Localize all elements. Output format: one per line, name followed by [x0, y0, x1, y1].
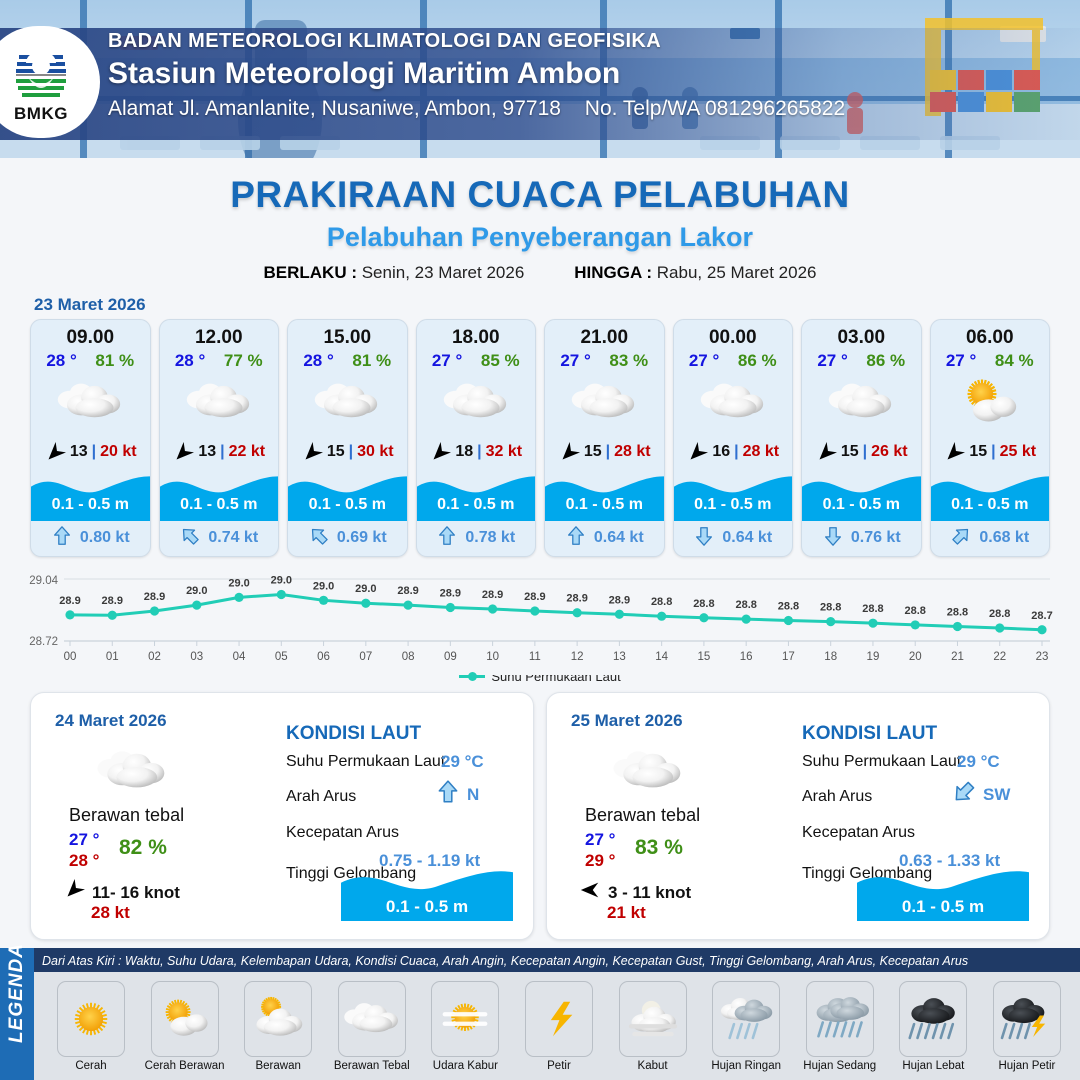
daily-gust-speed: 21 kt [607, 903, 646, 923]
card-wind-row: 15 | 28 kt [545, 437, 664, 467]
daily-temp-min: 27 ° [69, 830, 99, 850]
svg-text:13: 13 [613, 651, 626, 663]
sst-label: Suhu Permukaan Laut [802, 753, 961, 771]
card-current-row: 0.64 kt [674, 521, 793, 555]
card-time: 00.00 [674, 320, 793, 349]
card-humidity: 84 % [995, 351, 1034, 371]
svg-text:19: 19 [867, 651, 880, 663]
card-wind-speed: 15 [327, 443, 345, 461]
card-current-row: 0.80 kt [31, 521, 150, 555]
card-wind-speed: 18 [455, 443, 473, 461]
legend-icon-udara-kabur [431, 981, 499, 1057]
svg-text:21: 21 [951, 651, 964, 663]
card-temperature: 28 ° [175, 351, 205, 371]
card-wind-row: 18 | 32 kt [417, 437, 536, 467]
svg-text:28.8: 28.8 [735, 599, 756, 611]
legend-icon-hujan-sedang [806, 981, 874, 1057]
svg-text:23: 23 [1036, 651, 1049, 663]
card-wave-band: 0.1 - 0.5 m [288, 469, 407, 521]
svg-text:17: 17 [782, 651, 795, 663]
svg-text:28.9: 28.9 [440, 587, 461, 599]
card-weather-icon [417, 373, 536, 431]
legend-item-label: Hujan Lebat [890, 1060, 976, 1072]
card-wind-row: 15 | 26 kt [802, 437, 921, 467]
legend-item: Hujan Sedang [797, 981, 883, 1072]
svg-text:28.9: 28.9 [144, 591, 165, 603]
card-current-row: 0.78 kt [417, 521, 536, 555]
card-wind-separator: | [220, 443, 224, 461]
daily-condition: Berawan tebal [585, 805, 700, 826]
card-temperature: 28 ° [46, 351, 76, 371]
card-weather-icon [31, 373, 150, 431]
legend-item-label: Hujan Ringan [703, 1060, 789, 1072]
svg-text:29.0: 29.0 [313, 580, 334, 592]
berlaku-value: Senin, 23 Maret 2026 [362, 263, 525, 282]
card-humidity: 83 % [609, 351, 648, 371]
svg-text:02: 02 [148, 651, 161, 663]
card-temp-hum-row: 27 ° 86 % [674, 349, 793, 371]
card-gust-speed: 28 kt [743, 443, 779, 461]
card-current-speed: 0.69 kt [337, 529, 387, 547]
legend-icon-berawan-tebal [338, 981, 406, 1057]
card-weather-icon [545, 373, 664, 431]
legend-item-label: Berawan Tebal [329, 1060, 415, 1072]
svg-text:16: 16 [740, 651, 753, 663]
card-wind-separator: | [991, 443, 995, 461]
card-gust-speed: 25 kt [1000, 443, 1036, 461]
card-wind-row: 13 | 20 kt [31, 437, 150, 467]
card-weather-icon [674, 373, 793, 431]
svg-text:05: 05 [275, 651, 288, 663]
card-temperature: 27 ° [560, 351, 590, 371]
legend-item: Hujan Lebat [890, 981, 976, 1072]
legend-item: Udara Kabur [422, 981, 508, 1072]
svg-text:06: 06 [317, 651, 330, 663]
card-time: 03.00 [802, 320, 921, 349]
current-direction-icon [51, 525, 73, 552]
card-wind-separator: | [92, 443, 96, 461]
current-direction-icon [951, 779, 977, 810]
card-wind-separator: | [477, 443, 481, 461]
svg-text:28.8: 28.8 [820, 602, 841, 614]
legend-side-tab: LEGENDA [0, 948, 34, 1080]
current-direction-icon [565, 525, 587, 552]
card-wind-separator: | [734, 443, 738, 461]
legend-item-label: Cerah Berawan [142, 1060, 228, 1072]
svg-text:08: 08 [402, 651, 415, 663]
legend-item-label: Hujan Sedang [797, 1060, 883, 1072]
card-wind-row: 16 | 28 kt [674, 437, 793, 467]
daily-condition: Berawan tebal [69, 805, 184, 826]
wind-direction-icon [815, 442, 837, 462]
daily-humidity: 83 % [635, 836, 683, 860]
card-time: 15.00 [288, 320, 407, 349]
current-speed-label: Kecepatan Arus [802, 824, 915, 842]
card-gust-speed: 26 kt [871, 443, 907, 461]
legend-icon-hujan-ringan [712, 981, 780, 1057]
card-wave-height: 0.1 - 0.5 m [931, 496, 1050, 514]
card-temperature: 27 ° [817, 351, 847, 371]
card-wind-separator: | [863, 443, 867, 461]
card-gust-speed: 20 kt [100, 443, 136, 461]
legend-icon-cerah-berawan [151, 981, 219, 1057]
svg-text:29.0: 29.0 [186, 585, 207, 597]
svg-text:28.8: 28.8 [778, 600, 799, 612]
wind-direction-icon [429, 442, 451, 462]
svg-text:28.8: 28.8 [947, 606, 968, 618]
hourly-card: 09.00 28 ° 81 % [30, 319, 151, 557]
legend-icon-petir [525, 981, 593, 1057]
svg-text:00: 00 [64, 651, 77, 663]
hingga-value: Rabu, 25 Maret 2026 [657, 263, 817, 282]
legend-item: Berawan Tebal [329, 981, 415, 1072]
card-time: 18.00 [417, 320, 536, 349]
page-title: PRAKIRAAN CUACA PELABUHAN [0, 174, 1080, 216]
daily-temp-min: 27 ° [585, 830, 615, 850]
current-direction-value: N [467, 785, 479, 805]
sea-conditions-title: KONDISI LAUT [802, 723, 937, 745]
card-temp-hum-row: 27 ° 86 % [802, 349, 921, 371]
card-current-speed: 0.64 kt [594, 529, 644, 547]
card-wave-band: 0.1 - 0.5 m [545, 469, 664, 521]
card-wave-band: 0.1 - 0.5 m [802, 469, 921, 521]
card-temp-hum-row: 27 ° 84 % [931, 349, 1050, 371]
berlaku-group: BERLAKU : Senin, 23 Maret 2026 [263, 263, 524, 283]
svg-text:28.9: 28.9 [102, 595, 123, 607]
sea-conditions-title: KONDISI LAUT [286, 723, 421, 745]
legend-item-label: Udara Kabur [422, 1060, 508, 1072]
bmkg-logo-text: BMKG [14, 104, 68, 124]
card-wave-height: 0.1 - 0.5 m [160, 496, 279, 514]
card-wave-height: 0.1 - 0.5 m [417, 496, 536, 514]
svg-text:28.9: 28.9 [524, 591, 545, 603]
validity-row: BERLAKU : Senin, 23 Maret 2026 HINGGA : … [0, 263, 1080, 283]
daily-panels-row: 24 Maret 2026 Berawan tebal 27 ° 28 ° 82… [0, 684, 1080, 940]
daily-temp-max: 28 ° [69, 851, 99, 871]
svg-text:28.8: 28.8 [905, 605, 926, 617]
svg-text:28.9: 28.9 [482, 589, 503, 601]
svg-text:12: 12 [571, 651, 584, 663]
daily-wind-speed: 11- 16 knot [92, 883, 180, 903]
card-wave-height: 0.1 - 0.5 m [31, 496, 150, 514]
card-temp-hum-row: 27 ° 83 % [545, 349, 664, 371]
card-current-row: 0.64 kt [545, 521, 664, 555]
legend-item-label: Kabut [610, 1060, 696, 1072]
card-wind-speed: 15 [969, 443, 987, 461]
current-speed-label: Kecepatan Arus [286, 824, 399, 842]
daily-wind-speed: 3 - 11 knot [608, 883, 691, 903]
legend-items-row: Cerah Cerah Berawan [34, 972, 1080, 1080]
daily-weather-icon [605, 741, 691, 806]
current-direction-icon [436, 525, 458, 552]
wind-direction-icon [579, 879, 601, 906]
svg-text:15: 15 [698, 651, 711, 663]
card-humidity: 86 % [866, 351, 905, 371]
card-current-row: 0.76 kt [802, 521, 921, 555]
card-current-speed: 0.64 kt [722, 529, 772, 547]
sst-value: 29 °C [441, 752, 484, 772]
card-humidity: 85 % [481, 351, 520, 371]
card-wave-height: 0.1 - 0.5 m [545, 496, 664, 514]
svg-text:28.8: 28.8 [862, 603, 883, 615]
card-gust-speed: 22 kt [229, 443, 265, 461]
daily-wind-row: 11- 16 knot [63, 879, 180, 906]
card-wave-height: 0.1 - 0.5 m [802, 496, 921, 514]
legend-item: Kabut [610, 981, 696, 1072]
card-wind-speed: 15 [841, 443, 859, 461]
card-wave-band: 0.1 - 0.5 m [160, 469, 279, 521]
card-wind-row: 13 | 22 kt [160, 437, 279, 467]
svg-text:28.8: 28.8 [693, 598, 714, 610]
wind-direction-icon [301, 442, 323, 462]
card-time: 12.00 [160, 320, 279, 349]
title-block: PRAKIRAAN CUACA PELABUHAN Pelabuhan Peny… [0, 158, 1080, 283]
berlaku-label: BERLAKU : [263, 263, 357, 282]
station-name: Stasiun Meteorologi Maritim Ambon [108, 57, 845, 91]
agency-name: BADAN METEOROLOGI KLIMATOLOGI DAN GEOFIS… [108, 30, 845, 53]
svg-text:28.8: 28.8 [989, 608, 1010, 620]
card-time: 09.00 [31, 320, 150, 349]
card-humidity: 77 % [224, 351, 263, 371]
card-current-row: 0.74 kt [160, 521, 279, 555]
legend-item: Cerah [48, 981, 134, 1072]
svg-text:09: 09 [444, 651, 457, 663]
wind-direction-icon [943, 442, 965, 462]
legend-icon-kabut [619, 981, 687, 1057]
card-time: 06.00 [931, 320, 1050, 349]
current-direction-value: SW [983, 785, 1010, 805]
legend-item: Hujan Petir [984, 981, 1070, 1072]
daily-humidity: 82 % [119, 836, 167, 860]
hourly-card: 12.00 28 ° 77 % [159, 319, 280, 557]
current-direction-group: N [435, 779, 479, 810]
hingga-group: HINGGA : Rabu, 25 Maret 2026 [574, 263, 816, 283]
daily-panel: 24 Maret 2026 Berawan tebal 27 ° 28 ° 82… [30, 692, 534, 940]
legend-item: Petir [516, 981, 602, 1072]
daily-wave-value: 0.1 - 0.5 m [341, 897, 513, 917]
hourly-card: 18.00 27 ° 85 % [416, 319, 537, 557]
svg-text:11: 11 [529, 651, 541, 663]
legend-item-label: Hujan Petir [984, 1060, 1070, 1072]
svg-text:22: 22 [993, 651, 1006, 663]
chart-legend-marker [459, 675, 485, 678]
card-wind-speed: 16 [712, 443, 730, 461]
svg-text:18: 18 [824, 651, 837, 663]
card-current-speed: 0.68 kt [979, 529, 1029, 547]
daily-wind-row: 3 - 11 knot [579, 879, 691, 906]
bmkg-logo-icon [10, 41, 72, 103]
current-direction-icon [950, 525, 972, 552]
card-gust-speed: 28 kt [614, 443, 650, 461]
svg-text:28.7: 28.7 [1031, 610, 1052, 622]
card-temp-hum-row: 27 ° 85 % [417, 349, 536, 371]
hourly-cards-row: 09.00 28 ° 81 % [0, 319, 1080, 557]
card-temperature: 28 ° [303, 351, 333, 371]
card-weather-icon [288, 373, 407, 431]
svg-text:03: 03 [190, 651, 203, 663]
card-gust-speed: 32 kt [486, 443, 522, 461]
card-wind-separator: | [349, 443, 353, 461]
card-current-speed: 0.76 kt [851, 529, 901, 547]
svg-text:28.9: 28.9 [59, 595, 80, 607]
card-temp-hum-row: 28 ° 81 % [31, 349, 150, 371]
legend-item: Cerah Berawan [142, 981, 228, 1072]
sst-chart: 29.0428.7228.90028.90128.90229.00329.004… [0, 567, 1080, 675]
svg-text:28.72: 28.72 [29, 636, 58, 648]
svg-text:28.9: 28.9 [609, 594, 630, 606]
hourly-card: 15.00 28 ° 81 % [287, 319, 408, 557]
card-wind-row: 15 | 30 kt [288, 437, 407, 467]
legend-note: Dari Atas Kiri : Waktu, Suhu Udara, Kele… [34, 948, 1080, 972]
current-direction-label: Arah Arus [802, 788, 872, 806]
page-subtitle: Pelabuhan Penyeberangan Lakor [0, 222, 1080, 253]
current-direction-icon [693, 525, 715, 552]
svg-text:28.8: 28.8 [651, 596, 672, 608]
wind-direction-icon [44, 442, 66, 462]
card-wind-speed: 13 [70, 443, 88, 461]
card-time: 21.00 [545, 320, 664, 349]
current-direction-label: Arah Arus [286, 788, 356, 806]
card-current-speed: 0.80 kt [80, 529, 130, 547]
daily-panel: 25 Maret 2026 Berawan tebal 27 ° 29 ° 83… [546, 692, 1050, 940]
card-wave-band: 0.1 - 0.5 m [31, 469, 150, 521]
card-humidity: 81 % [95, 351, 134, 371]
current-direction-icon [179, 525, 201, 552]
svg-text:29.0: 29.0 [355, 583, 376, 595]
svg-text:20: 20 [909, 651, 922, 663]
svg-text:14: 14 [655, 651, 668, 663]
card-temp-hum-row: 28 ° 81 % [288, 349, 407, 371]
card-weather-icon [160, 373, 279, 431]
legend-item: Hujan Ringan [703, 981, 789, 1072]
card-wave-height: 0.1 - 0.5 m [288, 496, 407, 514]
hourly-date: 23 Maret 2026 [34, 295, 1080, 315]
legend-icon-cerah [57, 981, 125, 1057]
legend-icon-berawan [244, 981, 312, 1057]
card-wave-height: 0.1 - 0.5 m [674, 496, 793, 514]
daily-date: 24 Maret 2026 [55, 711, 167, 731]
sst-label: Suhu Permukaan Laut [286, 753, 445, 771]
page-header: BMKG BADAN METEOROLOGI KLIMATOLOGI DAN G… [0, 0, 1080, 158]
hourly-card: 06.00 27 ° 84 % 15 | 25 kt [930, 319, 1051, 557]
card-wave-band: 0.1 - 0.5 m [931, 469, 1050, 521]
card-current-row: 0.69 kt [288, 521, 407, 555]
station-phone: No. Telp/WA 081296265822 [585, 97, 845, 120]
card-humidity: 81 % [352, 351, 391, 371]
wind-direction-icon [558, 442, 580, 462]
svg-text:29.0: 29.0 [271, 575, 292, 587]
card-temperature: 27 ° [946, 351, 976, 371]
card-current-speed: 0.74 kt [208, 529, 258, 547]
svg-text:10: 10 [486, 651, 499, 663]
card-weather-icon [931, 373, 1050, 431]
card-temp-hum-row: 28 ° 77 % [160, 349, 279, 371]
svg-text:28.9: 28.9 [566, 593, 587, 605]
svg-text:07: 07 [359, 651, 372, 663]
daily-gust-speed: 28 kt [91, 903, 130, 923]
current-direction-group: SW [951, 779, 1010, 810]
legend-item-label: Berawan [235, 1060, 321, 1072]
card-gust-speed: 30 kt [357, 443, 393, 461]
svg-text:28.9: 28.9 [397, 585, 418, 597]
current-direction-icon [822, 525, 844, 552]
card-wind-row: 15 | 25 kt [931, 437, 1050, 467]
header-text-block: BADAN METEOROLOGI KLIMATOLOGI DAN GEOFIS… [108, 30, 845, 121]
card-humidity: 86 % [738, 351, 777, 371]
daily-wave-value: 0.1 - 0.5 m [857, 897, 1029, 917]
card-temperature: 27 ° [689, 351, 719, 371]
header-contact: Alamat Jl. Amanlanite, Nusaniwe, Ambon, … [108, 97, 845, 121]
daily-date: 25 Maret 2026 [571, 711, 683, 731]
daily-weather-icon [89, 741, 175, 806]
svg-text:01: 01 [106, 651, 119, 663]
hourly-card: 00.00 27 ° 86 % [673, 319, 794, 557]
wind-direction-icon [172, 442, 194, 462]
card-weather-icon [802, 373, 921, 431]
legend-item-label: Cerah [48, 1060, 134, 1072]
legend-icon-hujan-lebat [899, 981, 967, 1057]
wind-direction-icon [63, 879, 85, 906]
card-current-speed: 0.78 kt [465, 529, 515, 547]
legend-item-label: Petir [516, 1060, 602, 1072]
hourly-card: 03.00 27 ° 86 % [801, 319, 922, 557]
card-current-row: 0.68 kt [931, 521, 1050, 555]
card-temperature: 27 ° [432, 351, 462, 371]
legend-item: Berawan [235, 981, 321, 1072]
card-wave-band: 0.1 - 0.5 m [674, 469, 793, 521]
current-direction-icon [435, 779, 461, 810]
current-direction-icon [308, 525, 330, 552]
svg-text:04: 04 [233, 651, 246, 663]
legend-bar: LEGENDA Dari Atas Kiri : Waktu, Suhu Uda… [0, 948, 1080, 1080]
sst-value: 29 °C [957, 752, 1000, 772]
wind-direction-icon [686, 442, 708, 462]
card-wind-speed: 13 [198, 443, 216, 461]
hingga-label: HINGGA : [574, 263, 652, 282]
legend-icon-hujan-petir [993, 981, 1061, 1057]
hourly-card: 21.00 27 ° 83 % [544, 319, 665, 557]
svg-text:29.0: 29.0 [228, 577, 249, 589]
legend-side-label: LEGENDA [6, 943, 28, 1043]
legend-main: Dari Atas Kiri : Waktu, Suhu Udara, Kele… [34, 948, 1080, 1080]
svg-text:29.04: 29.04 [29, 575, 58, 587]
sst-chart-svg: 29.0428.7228.90028.90128.90229.00329.004… [0, 567, 1080, 675]
card-wind-speed: 15 [584, 443, 602, 461]
daily-temp-max: 29 ° [585, 851, 615, 871]
card-wave-band: 0.1 - 0.5 m [417, 469, 536, 521]
card-wind-separator: | [606, 443, 610, 461]
station-address: Alamat Jl. Amanlanite, Nusaniwe, Ambon, … [108, 97, 561, 120]
